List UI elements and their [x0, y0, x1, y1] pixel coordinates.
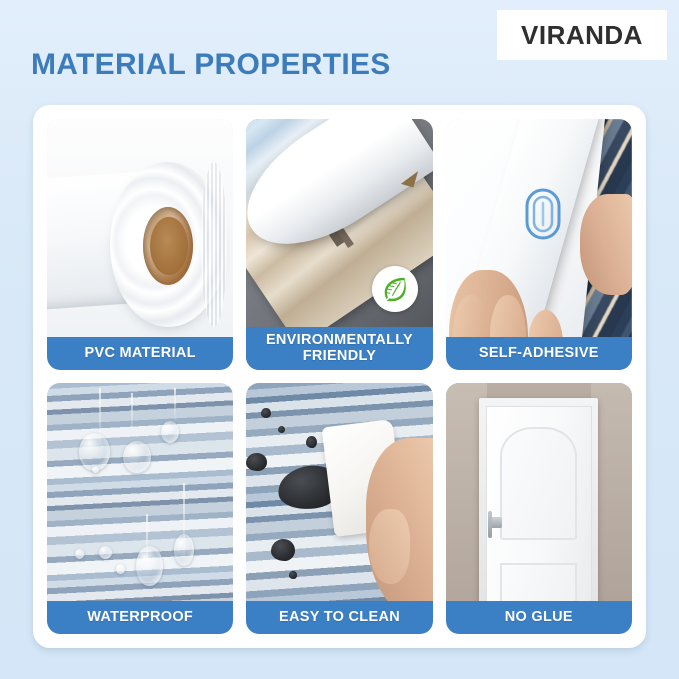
feature-cell-no-glue[interactable]: NO GLUE: [446, 383, 632, 634]
feature-cell-environmentally-friendly[interactable]: ENVIRONMENTALLY FRIENDLY: [246, 119, 432, 370]
brand-name: VIRANDA: [521, 20, 643, 51]
waterproof-image: [47, 383, 233, 634]
feature-label-pvc-material: PVC MATERIAL: [47, 337, 233, 370]
feature-cell-pvc-material[interactable]: PVC MATERIAL: [47, 119, 233, 370]
feature-label-line-1: ENVIRONMENTALLY: [250, 332, 428, 348]
leaf-badge: [372, 266, 418, 312]
feature-cell-self-adhesive[interactable]: SELF-ADHESIVE: [446, 119, 632, 370]
features-card: PVC MATERIAL: [33, 105, 646, 648]
paperclip-icon: [524, 187, 562, 241]
easy-to-clean-image: [246, 383, 432, 634]
features-grid: PVC MATERIAL: [47, 119, 632, 634]
brand-logo-box: VIRANDA: [497, 10, 667, 60]
self-adhesive-image: [446, 119, 632, 370]
feature-cell-waterproof[interactable]: WATERPROOF: [47, 383, 233, 634]
pvc-roll-image: [47, 119, 233, 370]
feature-label-self-adhesive: SELF-ADHESIVE: [446, 337, 632, 370]
no-glue-door-image: [446, 383, 632, 634]
leaf-icon: [380, 274, 410, 304]
feature-label-environmentally-friendly: ENVIRONMENTALLY FRIENDLY: [246, 327, 432, 370]
page-title: MATERIAL PROPERTIES: [31, 48, 391, 82]
feature-label-no-glue: NO GLUE: [446, 601, 632, 634]
feature-label-waterproof: WATERPROOF: [47, 601, 233, 634]
feature-label-easy-to-clean: EASY TO CLEAN: [246, 601, 432, 634]
feature-cell-easy-to-clean[interactable]: EASY TO CLEAN: [246, 383, 432, 634]
feature-label-line-2: FRIENDLY: [250, 348, 428, 364]
